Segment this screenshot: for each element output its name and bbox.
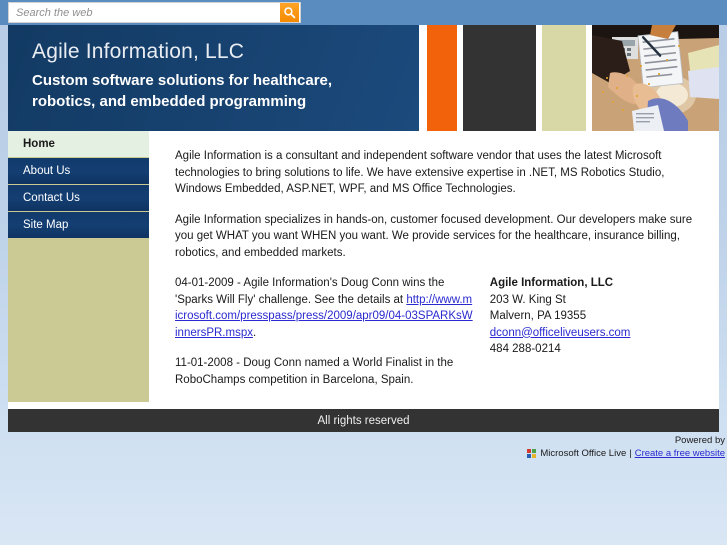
site-title: Agile Information, LLC (32, 40, 244, 64)
powered-by-label: Powered by (485, 434, 725, 447)
news-item: 11-01-2008 - Doug Conn named a World Fin… (175, 355, 474, 388)
create-free-website-link[interactable]: Create a free website (635, 447, 725, 460)
main-content: Agile Information is a consultant and in… (149, 131, 719, 409)
sidebar-item-label: Home (23, 138, 55, 150)
sidebar-item-label: About Us (23, 165, 70, 177)
banner-dark-block (463, 25, 536, 131)
sidebar-item-label: Contact Us (23, 192, 80, 204)
footer-bar: All rights reserved (8, 409, 719, 432)
intro-paragraph-1: Agile Information is a consultant and in… (175, 148, 697, 198)
sidebar-nav: Home About Us Contact Us Site Map (8, 131, 149, 402)
contact-phone: 484 288-0214 (490, 341, 697, 358)
contact-company-name: Agile Information, LLC (490, 275, 697, 292)
intro-paragraph-2: Agile Information specializes in hands-o… (175, 212, 697, 262)
contact-street: 203 W. King St (490, 292, 697, 309)
contact-block: Agile Information, LLC 203 W. King St Ma… (490, 275, 697, 402)
powered-by-block: Powered by Microsoft Office Live | Creat… (485, 434, 725, 460)
site-banner: Agile Information, LLC Custom software s… (8, 25, 719, 131)
news-text: 11-01-2008 - Doug Conn named a World Fin… (175, 357, 453, 386)
contact-email-link[interactable]: dconn@officeliveusers.com (490, 327, 631, 339)
news-list: 04-01-2009 - Agile Information's Doug Co… (175, 275, 474, 402)
sidebar-item-home[interactable]: Home (8, 131, 149, 157)
body-row: Home About Us Contact Us Site Map Agile … (8, 131, 719, 409)
copyright-text: All rights reserved (317, 415, 409, 427)
search-strip (0, 0, 727, 25)
provider-name: Microsoft Office Live (540, 447, 626, 460)
banner-khaki-block (542, 25, 586, 131)
news-item: 04-01-2009 - Agile Information's Doug Co… (175, 275, 474, 341)
banner-orange-block (427, 25, 457, 131)
banner-photo (592, 25, 719, 131)
contact-city-state-zip: Malvern, PA 19355 (490, 308, 697, 325)
search-button[interactable] (280, 3, 299, 22)
news-text-after: . (253, 327, 256, 339)
separator: | (629, 447, 631, 460)
sidebar-item-contact-us[interactable]: Contact Us (8, 185, 149, 211)
news-text: 04-01-2009 - Agile Information's Doug Co… (175, 277, 444, 306)
news-and-contact-row: 04-01-2009 - Agile Information's Doug Co… (175, 275, 697, 402)
sidebar-item-label: Site Map (23, 219, 68, 231)
search-box[interactable] (8, 2, 301, 23)
search-input[interactable] (9, 2, 280, 23)
search-icon (283, 6, 296, 19)
sidebar-item-about-us[interactable]: About Us (8, 158, 149, 184)
sidebar-item-site-map[interactable]: Site Map (8, 212, 149, 238)
page-container: Agile Information, LLC Custom software s… (8, 25, 719, 432)
site-tagline: Custom software solutions for healthcare… (32, 70, 392, 112)
microsoft-office-live-logo-icon (527, 449, 537, 459)
desk-photo-illustration (592, 25, 719, 131)
